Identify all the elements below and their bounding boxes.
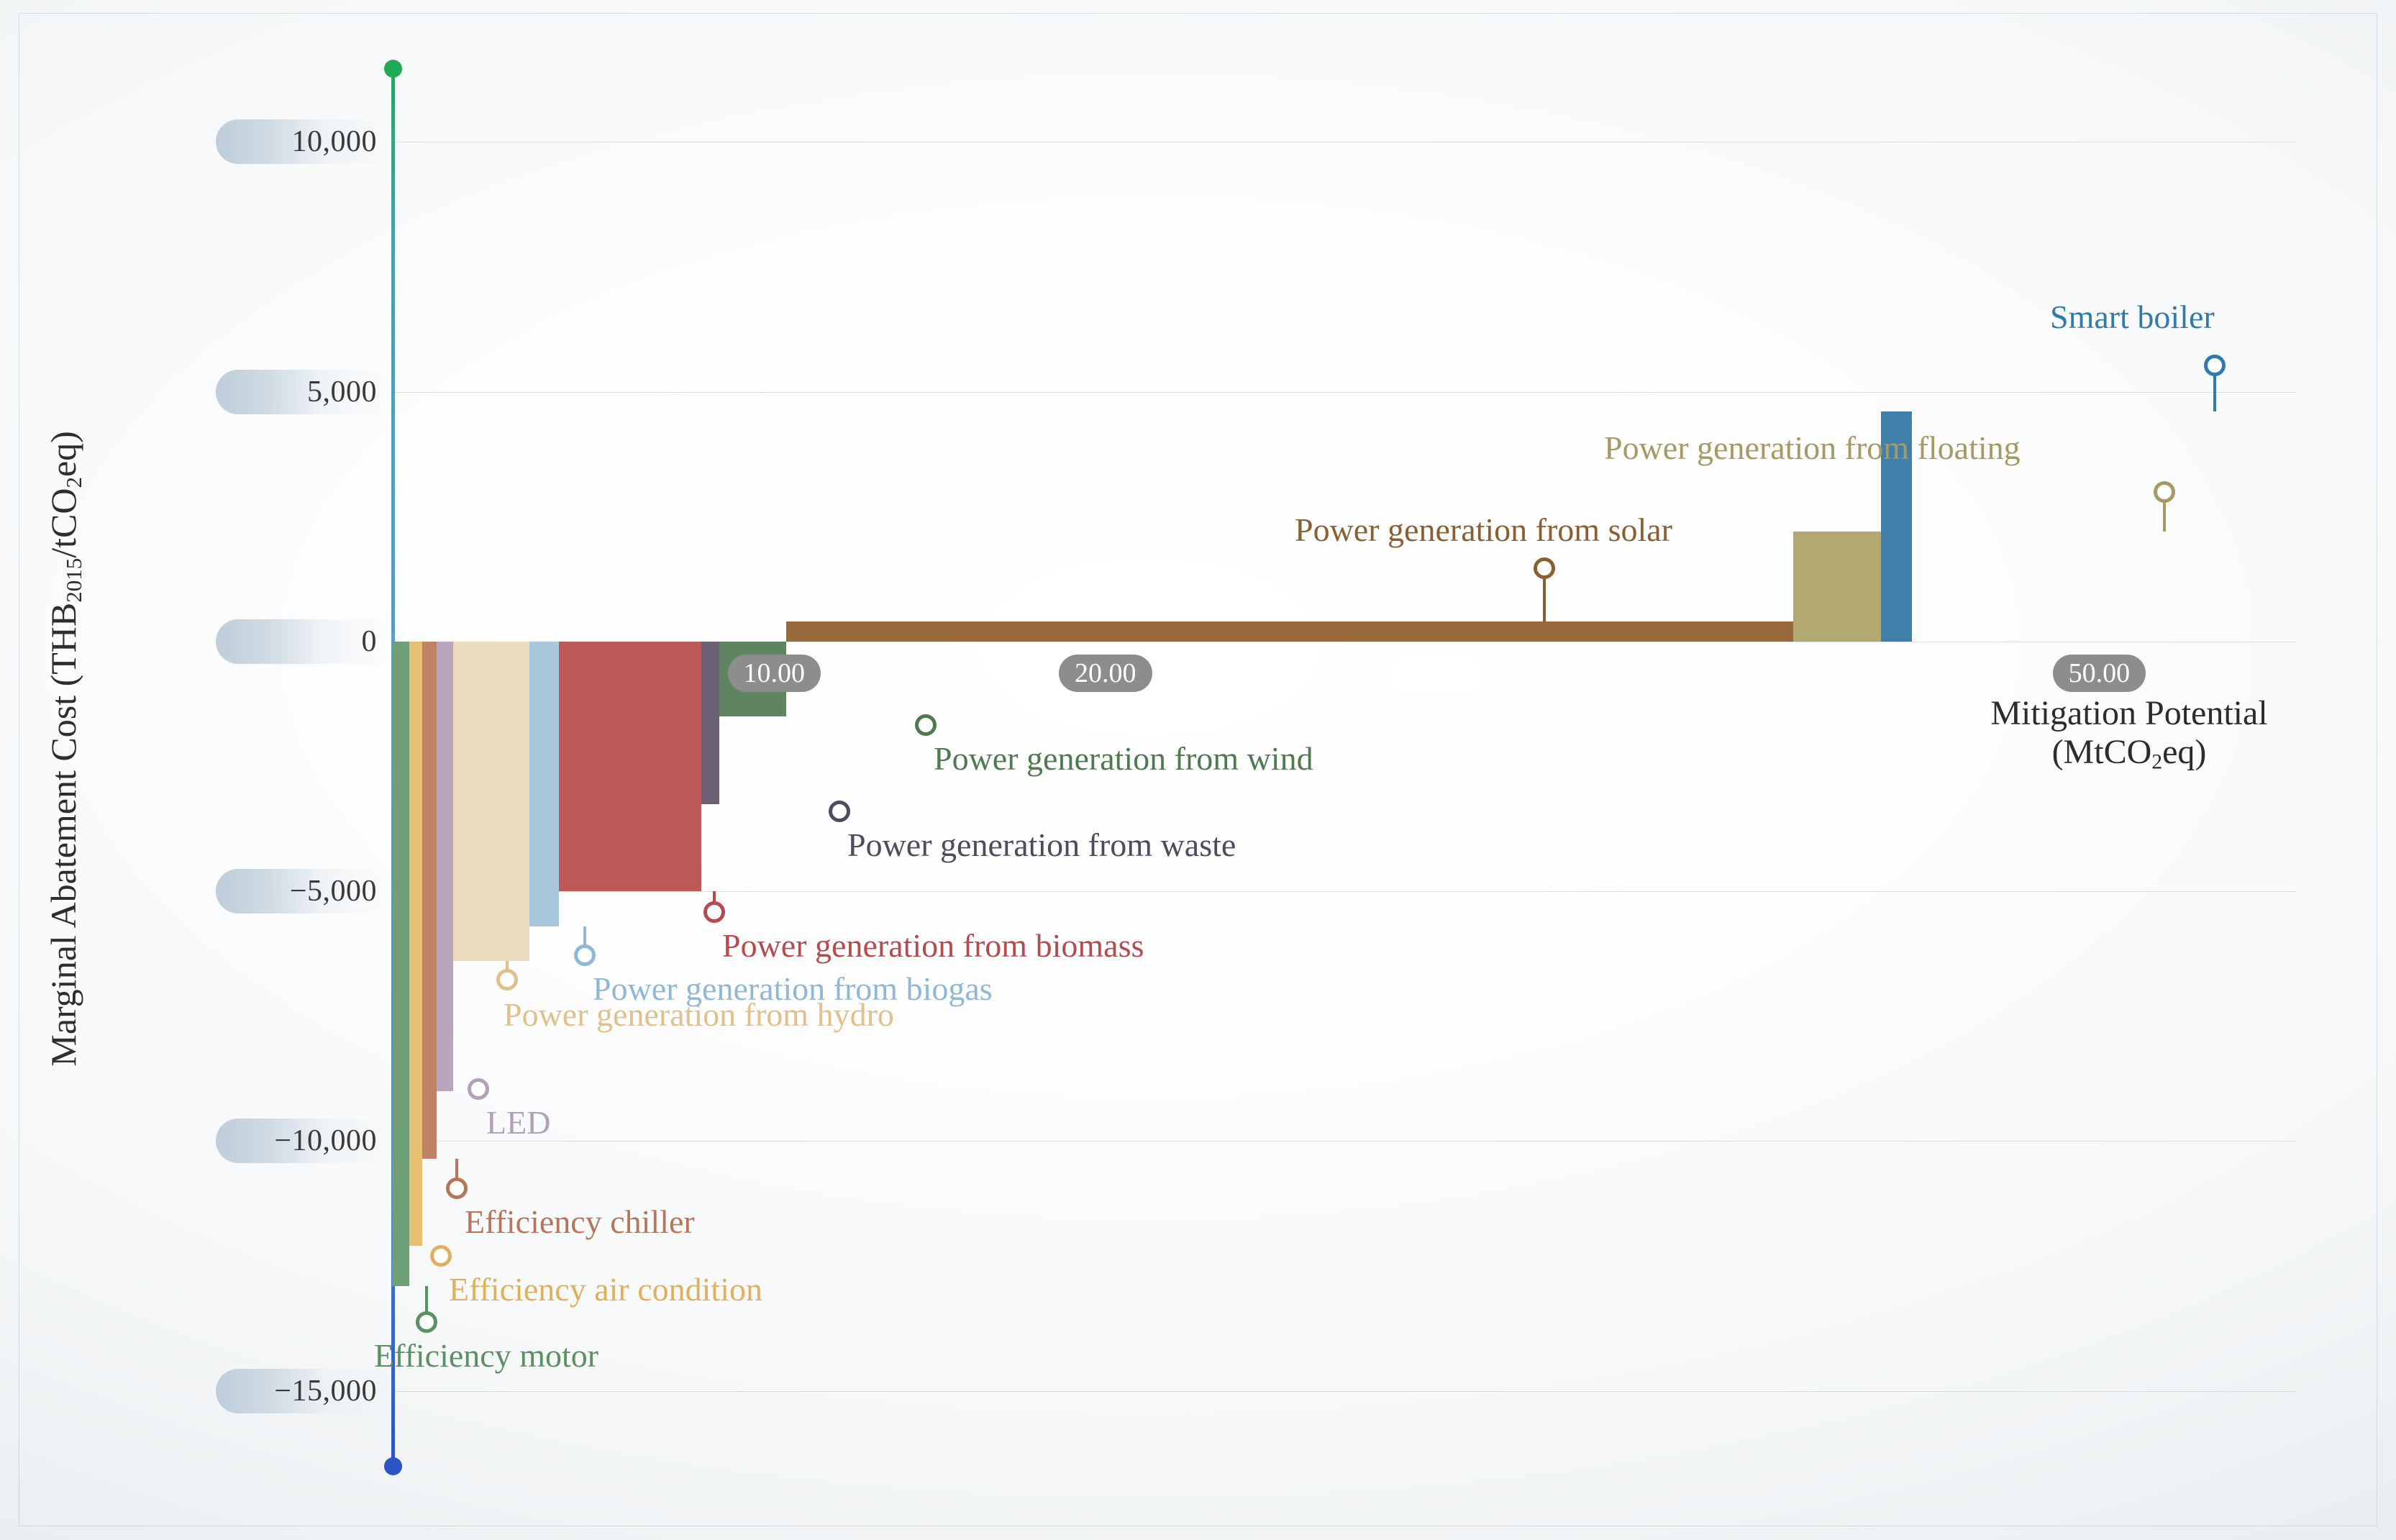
y-axis-title-sub-2: 2 <box>61 477 86 488</box>
callout-marker-icon <box>915 714 937 736</box>
y-tick-label-1: 5,000 <box>216 370 396 414</box>
y-axis-title: Marginal Abatement Cost (THB2015/tCO2eq) <box>42 137 87 1360</box>
callout-marker-icon <box>446 1177 468 1199</box>
callout-label: Efficiency chiller <box>465 1206 695 1239</box>
gridline-3 <box>392 891 2297 892</box>
callout-marker-icon <box>703 901 725 923</box>
callout-label: Efficiency motor <box>374 1339 598 1372</box>
callout-marker-icon <box>574 944 596 966</box>
callout-label: LED <box>486 1106 550 1139</box>
callout-marker-icon <box>430 1245 452 1267</box>
x-axis-title-line2: (MtCO2eq) <box>1899 733 2359 774</box>
callout-label: Power generation from waste <box>847 829 1236 862</box>
gridline-1 <box>392 392 2297 393</box>
bar-power-generation-from-hydro[interactable] <box>453 642 529 962</box>
bar-power-generation-from-floating[interactable] <box>1793 532 1881 642</box>
callout-marker-icon <box>829 801 850 822</box>
callout-label: Power generation from wind <box>934 742 1313 775</box>
y-axis-title-text: Marginal Abatement Cost (THB <box>43 603 83 1067</box>
y-axis-bottom-endpoint-dot <box>384 1457 402 1475</box>
bar-led[interactable] <box>437 642 453 1091</box>
y-axis-title-post: eq) <box>43 431 83 477</box>
y-tick-label-2: 0 <box>216 619 396 664</box>
gridline-0 <box>392 142 2297 142</box>
macc-chart-figure: 10,0005,0000−5,000−10,000−15,000 Margina… <box>0 0 2396 1540</box>
bar-power-generation-from-biomass[interactable] <box>559 642 701 891</box>
x-tick-label-50: 50.00 <box>2053 655 2146 692</box>
bar-power-generation-from-waste[interactable] <box>701 642 719 804</box>
y-axis-top-endpoint-dot <box>384 60 402 78</box>
gridline-5 <box>392 1391 2297 1392</box>
y-tick-label-4: −10,000 <box>216 1118 396 1163</box>
bar-efficiency-chiller[interactable] <box>422 642 436 1159</box>
callout-marker-icon <box>496 969 518 990</box>
y-tick-label-3: −5,000 <box>216 869 396 913</box>
bar-efficiency-motor[interactable] <box>392 642 409 1286</box>
callout-marker-icon <box>416 1311 437 1333</box>
callout-label: Power generation from biomass <box>722 929 1144 962</box>
callout-marker-icon <box>1534 557 1555 579</box>
x-tick-label-30: 30.00 <box>1390 655 1484 692</box>
callout-marker-icon <box>468 1078 489 1100</box>
x-axis-title-line2-post: eq) <box>2162 733 2206 771</box>
x-axis-title: Mitigation Potential (MtCO2eq) <box>1899 694 2359 774</box>
x-tick-label-10: 10.00 <box>728 655 821 692</box>
callout-label: Power generation from floating <box>1604 432 2021 465</box>
bar-efficiency-air-condition[interactable] <box>409 642 422 1247</box>
y-tick-label-5: −15,000 <box>216 1369 396 1413</box>
gridline-4 <box>392 1141 2297 1142</box>
x-axis-title-line1: Mitigation Potential <box>1899 694 2359 733</box>
x-axis-title-line2-pre: (MtCO <box>2052 733 2152 771</box>
callout-label: Power generation from solar <box>1295 514 1672 547</box>
x-axis-title-sub: 2 <box>2151 750 2162 773</box>
callout-marker-icon <box>2154 481 2175 503</box>
bar-power-generation-from-solar[interactable] <box>786 621 1793 642</box>
x-tick-label-40: 40.00 <box>1721 655 1815 692</box>
callout-marker-icon <box>2204 355 2226 376</box>
callout-label: Power generation from biogas <box>593 972 993 1006</box>
y-tick-label-0: 10,000 <box>216 119 396 164</box>
y-axis-title-sub-2015: 2015 <box>61 558 86 603</box>
bar-power-generation-from-biogas[interactable] <box>529 642 559 926</box>
y-axis-title-mid: /tCO <box>43 488 83 558</box>
x-tick-label-20: 20.00 <box>1059 655 1152 692</box>
callout-label: Smart boiler <box>2050 301 2215 334</box>
callout-label: Efficiency air condition <box>449 1273 762 1306</box>
